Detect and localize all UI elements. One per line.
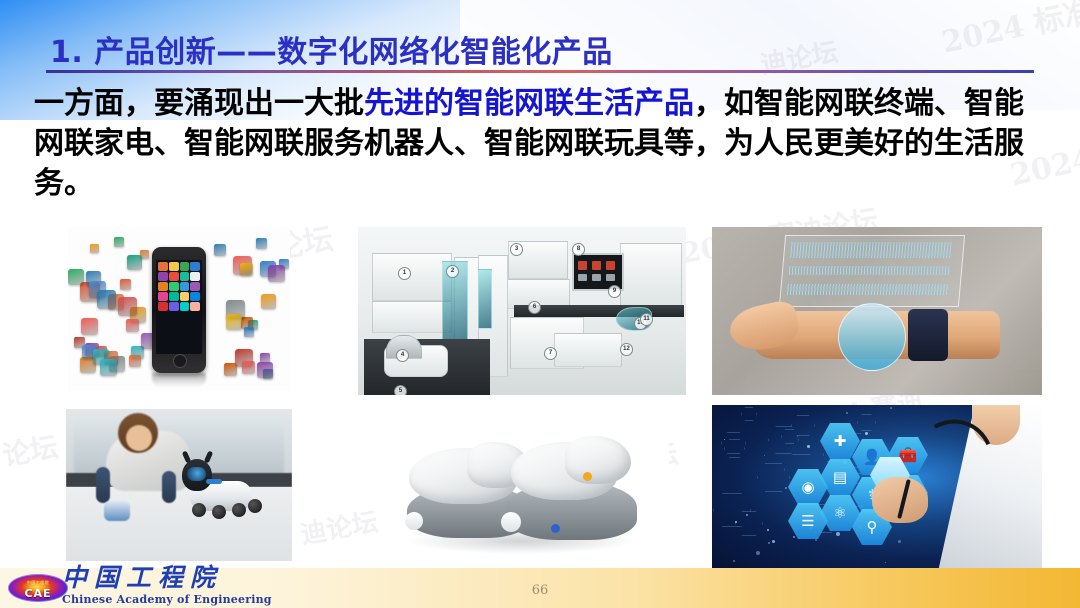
kitchen-upper-cabinet-right	[620, 243, 682, 307]
body-paragraph: 一方面，要涌现出一大批先进的智能网联生活产品，如智能网联终端、智能网联家电、智能…	[34, 84, 1052, 204]
phone-app-icon	[169, 272, 179, 281]
wall-brick	[966, 229, 1006, 249]
watermark-text: 论坛	[0, 425, 61, 474]
phone-app-icon	[158, 292, 168, 301]
phone-app-icon	[190, 282, 200, 291]
phone-app-icon	[190, 272, 200, 281]
wall-brick	[834, 373, 874, 393]
kitchen-callout-marker: 1	[398, 267, 411, 280]
watermark-text: 2024 标准	[937, 0, 1080, 62]
body-line1-highlight: 先进的智能网联生活产品	[364, 86, 694, 121]
wall-brick	[966, 373, 1006, 393]
network-node-dot	[815, 539, 817, 541]
smartphone-body	[152, 247, 206, 373]
phone-app-icon	[169, 292, 179, 301]
app-icon	[256, 238, 267, 249]
phone-app-icon	[169, 282, 179, 291]
app-icon	[97, 290, 116, 309]
health-waveform-2	[789, 266, 950, 275]
smartphone-home-button	[173, 354, 187, 368]
child-arm-left	[96, 467, 110, 503]
wearable-wrist-band	[908, 309, 948, 361]
app-icon	[127, 255, 142, 270]
wall-brick	[712, 277, 742, 297]
kitchen-callout-marker: 9	[608, 285, 621, 298]
child-face	[126, 425, 152, 451]
app-icon	[68, 269, 84, 285]
smartphone-screen	[156, 260, 202, 354]
wearable-holographic-panel	[779, 235, 965, 307]
phone-app-icon	[180, 282, 190, 291]
kitchen-pullout-table	[554, 333, 622, 367]
massager-right-roller	[501, 512, 521, 532]
phone-app-icon	[180, 262, 190, 271]
kitchen-callout-marker: 6	[528, 301, 541, 314]
network-node-dot	[785, 487, 787, 489]
body-line1-pre: 一方面，要涌现出一大批	[34, 86, 364, 121]
phone-app-icon	[180, 302, 190, 311]
kitchen-callout-marker: 12	[620, 343, 633, 356]
page-title: 1. 产品创新——数字化网络化智能化产品	[50, 27, 613, 71]
phone-app-icon	[169, 302, 179, 311]
wall-brick	[1032, 349, 1042, 369]
robot-dog-collar	[206, 479, 222, 484]
wall-brick	[724, 253, 764, 273]
kitchen-callout-marker: 11	[640, 313, 653, 326]
app-icon	[242, 361, 255, 374]
wall-brick	[712, 229, 742, 249]
phone-app-icon	[158, 272, 168, 281]
massager-led-blue	[551, 524, 560, 533]
app-icon	[244, 327, 254, 337]
massager-right-heel-cup	[565, 436, 631, 484]
wall-brick	[712, 373, 742, 393]
wall-brick	[1032, 301, 1042, 321]
photo-smart-kitchen: 123456789101112	[358, 227, 686, 395]
phone-app-icon	[180, 272, 190, 281]
phone-app-icon	[169, 262, 179, 271]
app-icon	[118, 297, 137, 316]
wall-brick	[1010, 373, 1042, 393]
app-icon	[214, 244, 226, 256]
kitchen-upper-cabinet-left	[372, 253, 452, 301]
network-node-dot	[885, 562, 886, 563]
network-node-dot	[724, 439, 725, 440]
kitchen-callout-marker: 3	[510, 243, 523, 256]
app-icon	[100, 359, 117, 376]
photo-smart-phone-apps	[68, 227, 290, 391]
phone-app-icon	[190, 262, 200, 271]
app-icon	[129, 355, 141, 367]
network-node-dot	[898, 540, 901, 543]
photo-foot-massager	[383, 424, 669, 570]
massager-led-amber	[583, 472, 592, 481]
wall-brick	[1032, 253, 1042, 273]
wearable-magnify-lens	[838, 303, 906, 371]
health-waveform-1	[790, 242, 951, 258]
photo-wearable-health-band	[712, 227, 1042, 395]
app-icon	[268, 265, 285, 282]
network-node-dot	[735, 521, 737, 523]
phone-app-icon	[190, 292, 200, 301]
kitchen-fridge-side-panel	[478, 269, 492, 329]
app-icon	[114, 237, 124, 247]
wall-brick	[746, 373, 786, 393]
network-node-dot	[756, 551, 760, 555]
kitchen-callout-marker: 4	[396, 349, 409, 362]
kitchen-callout-marker: 5	[394, 385, 407, 395]
health-waveform-3	[787, 284, 948, 295]
phone-app-icon	[190, 302, 200, 311]
phone-app-icon	[158, 302, 168, 311]
title-divider-rule	[46, 70, 1034, 73]
network-node-dot	[890, 407, 892, 409]
network-node-dot	[793, 536, 795, 538]
network-node-dot	[836, 532, 840, 536]
wall-brick	[1010, 325, 1042, 345]
page-number: 66	[0, 583, 1080, 598]
photo-smart-medical: ✚ 👤 ▤ ◉ ⚛ ⚕ 🧰 ✎ ⚲ ☰	[712, 405, 1042, 570]
app-icon	[257, 362, 273, 378]
wall-brick	[746, 229, 786, 249]
robot-dog-wheel-2	[212, 505, 226, 519]
app-icon	[126, 319, 139, 332]
robot-dog-wheel-3	[232, 503, 246, 517]
kitchen-shelf-left	[372, 301, 452, 333]
phone-app-icon	[158, 282, 168, 291]
kitchen-callout-marker: 7	[544, 347, 557, 360]
kitchen-callout-marker: 2	[446, 265, 459, 278]
network-node-dot	[733, 560, 735, 562]
robot-dog-wheel-1	[192, 503, 206, 517]
robot-dog-face-display	[187, 467, 206, 481]
network-node-dot	[865, 432, 868, 435]
network-node-dot	[846, 412, 848, 414]
body-line1-post: ，如智能网	[694, 86, 844, 121]
app-icon	[120, 279, 131, 290]
watermark-text: 迪论坛	[297, 502, 380, 552]
wall-brick	[988, 253, 1028, 273]
wall-brick	[966, 277, 1006, 297]
network-node-dot	[772, 540, 775, 543]
wall-brick	[1010, 277, 1042, 297]
wall-brick	[878, 373, 918, 393]
smartphone-reflection	[152, 373, 206, 387]
app-icon	[261, 294, 276, 309]
wall-brick	[790, 373, 830, 393]
network-node-dot	[764, 455, 765, 456]
app-icon	[90, 244, 99, 253]
photo-child-robot-dog	[66, 409, 292, 561]
kitchen-callout-marker: 8	[572, 243, 585, 256]
wall-brick	[1010, 229, 1042, 249]
massager-left-roller	[405, 512, 423, 530]
app-icon	[81, 318, 98, 335]
robot-dog-wheel-4	[248, 499, 262, 513]
app-icon	[240, 263, 253, 276]
phone-app-icon	[180, 292, 190, 301]
slide-canvas: 2024 标准2024迪论坛2024 赛迪论坛论坛迪论坛2024 赛迪论坛迪论坛…	[0, 0, 1080, 608]
small-blue-toy	[104, 501, 130, 521]
app-icon	[226, 314, 242, 330]
network-node-dot	[767, 529, 769, 531]
network-node-dot	[807, 445, 810, 448]
app-icon	[224, 363, 237, 376]
network-node-dot	[746, 514, 748, 516]
wall-brick	[922, 373, 962, 393]
watermark-text: 迪论坛	[757, 32, 840, 82]
phone-app-icon	[158, 262, 168, 271]
network-node-dot	[768, 542, 770, 544]
child-arm-right	[162, 471, 176, 503]
slide-footer: 中国工程院 CAE 中国工程院 Chinese Academy of Engin…	[0, 568, 1080, 608]
